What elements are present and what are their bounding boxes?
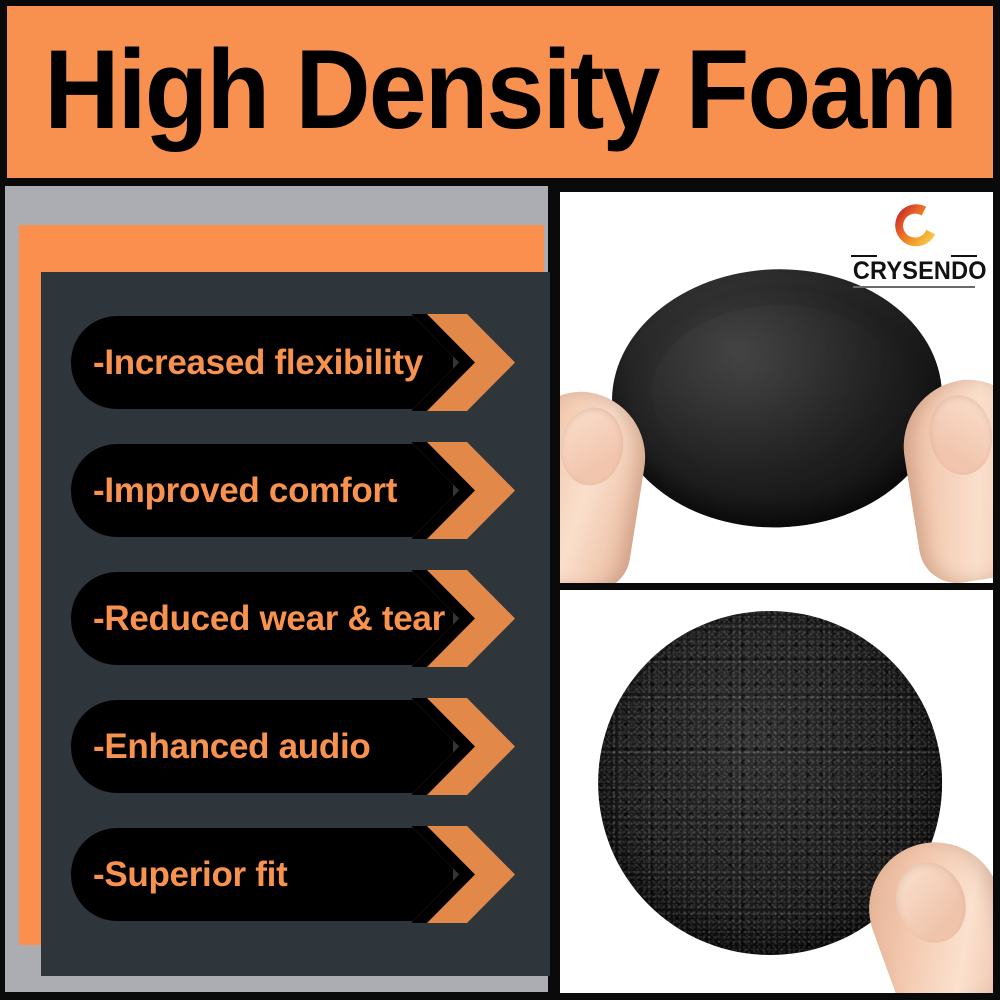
chevron-right-icon (411, 698, 550, 795)
features-panel-dark-board: -Increased flexibility (41, 272, 550, 976)
features-panel-gray-surround: -Increased flexibility (5, 186, 548, 992)
brand-underline (853, 286, 975, 288)
product-infographic: High Density Foam -Increased flexibility (0, 0, 1000, 1000)
chevron-right-icon (411, 826, 550, 923)
feature-label: -Reduced wear & tear (71, 601, 445, 636)
header-banner-inner: High Density Foam (7, 6, 993, 178)
product-photos-column: CRYSENDO (553, 186, 1000, 1000)
feature-pill: -Reduced wear & tear (71, 572, 453, 665)
list-item: -Reduced wear & tear (71, 572, 550, 665)
feature-label: -Enhanced audio (71, 729, 370, 764)
chevron-right-icon (411, 570, 550, 667)
list-item: -Enhanced audio (71, 700, 550, 793)
foam-disc-smooth (607, 263, 946, 532)
brand-logo: CRYSENDO (849, 200, 979, 286)
list-item: -Superior fit (71, 828, 550, 921)
chevron-right-icon (411, 314, 550, 411)
feature-pill: -Improved comfort (71, 444, 453, 537)
brand-name: CRYSENDO (853, 257, 975, 286)
feature-label: -Improved comfort (71, 473, 397, 508)
product-photo-smooth-disc: CRYSENDO (560, 192, 993, 583)
feature-pill: -Superior fit (71, 828, 453, 921)
list-item: -Improved comfort (71, 444, 550, 537)
brand-rule-lines (849, 255, 979, 256)
feature-pill: -Enhanced audio (71, 700, 453, 793)
page-title: High Density Foam (44, 34, 956, 146)
list-item: -Increased flexibility (71, 316, 550, 409)
feature-list: -Increased flexibility (41, 272, 550, 976)
product-photo-textured-disc (560, 590, 993, 993)
features-panel-orange-frame: -Increased flexibility (19, 225, 544, 945)
feature-label: -Increased flexibility (71, 345, 423, 380)
c-logo-icon (887, 200, 941, 252)
header-banner: High Density Foam (0, 0, 1000, 186)
feature-label: -Superior fit (71, 857, 287, 892)
chevron-right-icon (411, 442, 550, 539)
features-panel: -Increased flexibility (0, 186, 553, 1000)
feature-pill: -Increased flexibility (71, 316, 453, 409)
